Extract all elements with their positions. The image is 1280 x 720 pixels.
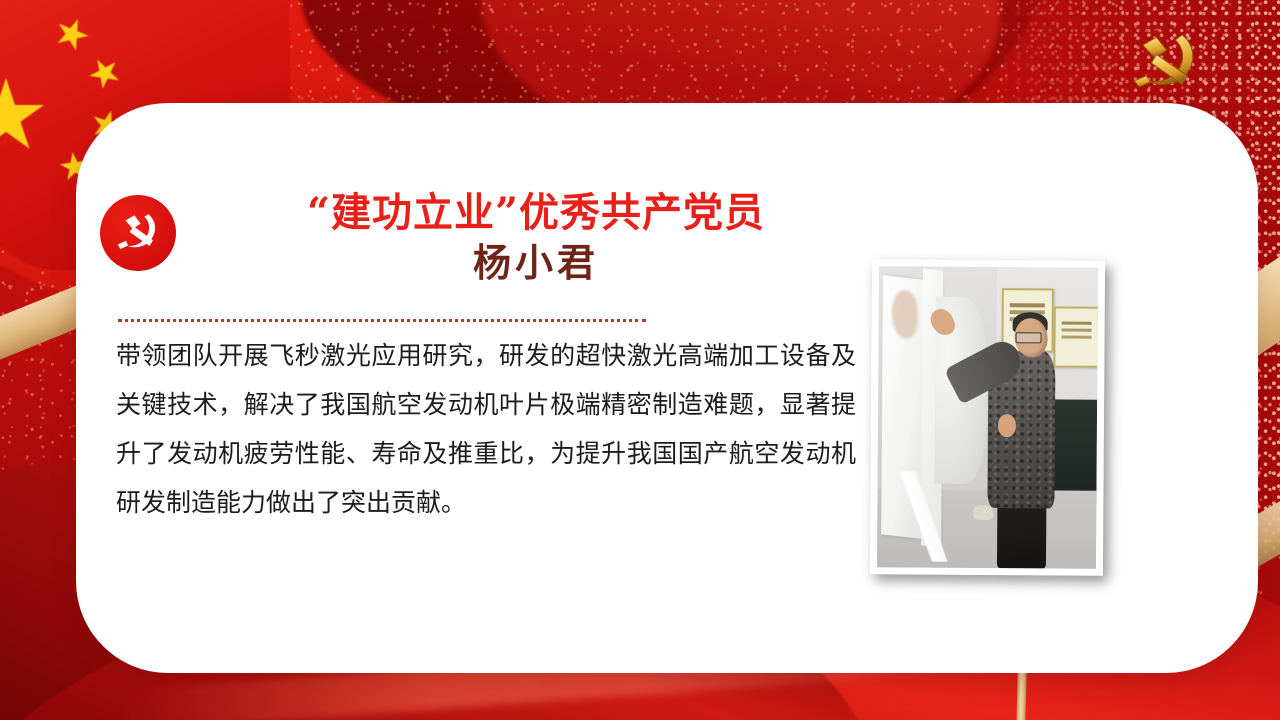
content-card: “建功立业”优秀共产党员 杨小君 带领团队开展飞秒激光应用研究，研发的超快激光高… <box>76 103 1258 673</box>
photo-dark-cabinet <box>1048 400 1097 503</box>
photo-person-shoe <box>974 505 994 520</box>
portrait-photo-image <box>877 266 1098 569</box>
description-paragraph: 带领团队开展飞秒激光应用研究，研发的超快激光高端加工设备及关键技术，解决了我国航… <box>116 331 856 527</box>
photo-panel-highlight <box>886 471 952 562</box>
photo-person-hand-lower <box>998 415 1016 438</box>
photo-hand-reflection <box>892 290 919 338</box>
flag-star-small-1 <box>51 13 93 55</box>
person-name: 杨小君 <box>186 238 886 287</box>
hammer-sickle-emblem-red-icon <box>100 195 176 271</box>
title-block: “建功立业”优秀共产党员 杨小君 <box>186 189 886 288</box>
hammer-sickle-emblem-gold-icon <box>1122 28 1208 98</box>
photo-person-glasses <box>1015 332 1041 344</box>
page-title: “建功立业”优秀共产党员 <box>186 189 886 236</box>
portrait-photo <box>870 259 1105 576</box>
slide-root: “建功立业”优秀共产党员 杨小君 带领团队开展飞秒激光应用研究，研发的超快激光高… <box>0 0 1280 720</box>
photo-certificate-2 <box>1054 307 1099 369</box>
dotted-divider <box>118 319 646 322</box>
flag-star-small-2 <box>84 52 126 94</box>
flag-star-large <box>0 78 44 154</box>
